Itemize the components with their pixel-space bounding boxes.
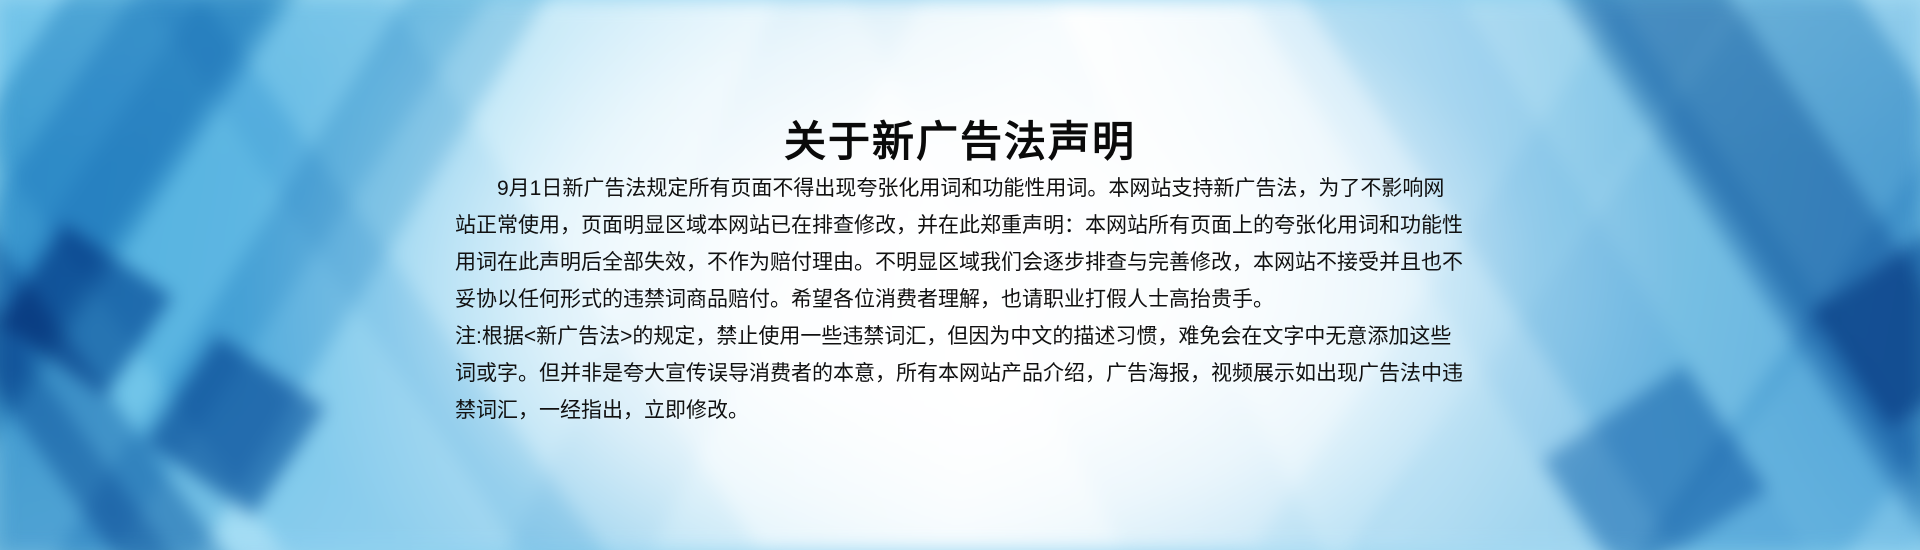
page-title: 关于新广告法声明 [0, 116, 1920, 168]
advertising-law-statement-banner: 关于新广告法声明 9月1日新广告法规定所有页面不得出现夸张化用词和功能性用词。本… [0, 0, 1920, 550]
statement-paragraph-note: 注:根据<新广告法>的规定，禁止使用一些违禁词汇，但因为中文的描述习惯，难免会在… [455, 318, 1465, 429]
statement-body: 9月1日新广告法规定所有页面不得出现夸张化用词和功能性用词。本网站支持新广告法，… [455, 170, 1465, 429]
statement-paragraph-main: 9月1日新广告法规定所有页面不得出现夸张化用词和功能性用词。本网站支持新广告法，… [455, 170, 1465, 318]
statement-content: 关于新广告法声明 9月1日新广告法规定所有页面不得出现夸张化用词和功能性用词。本… [0, 0, 1920, 550]
